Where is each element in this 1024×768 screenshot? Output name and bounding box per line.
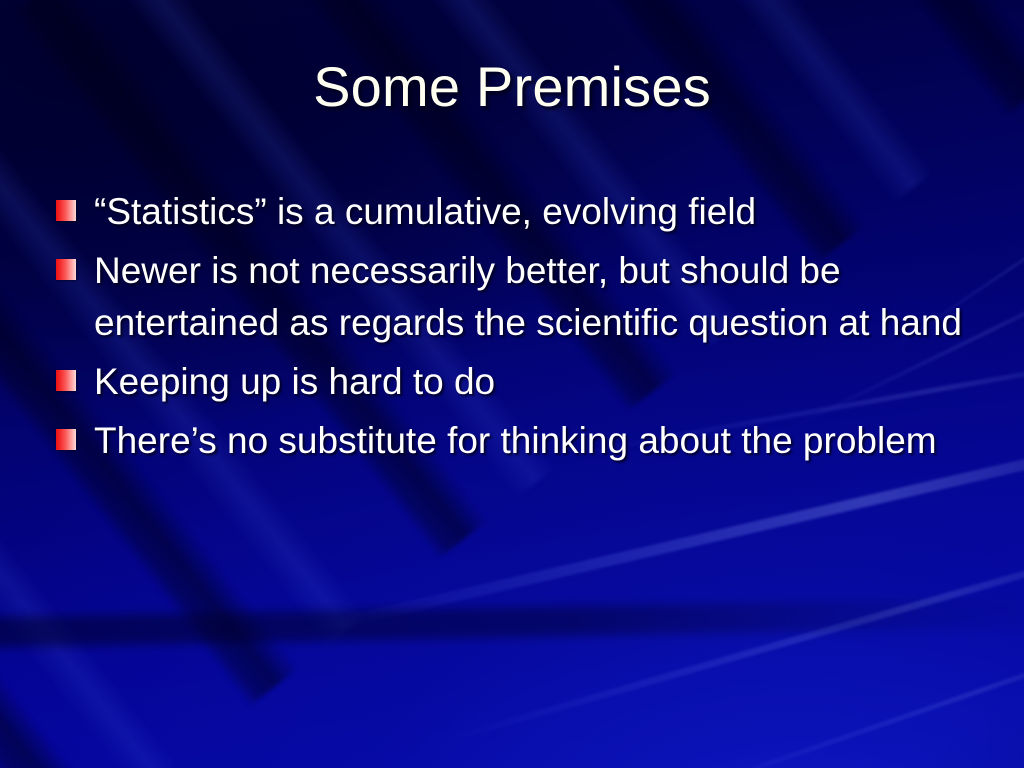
bullet-square-icon	[56, 259, 76, 280]
bullet-item: “Statistics” is a cumulative, evolving f…	[56, 186, 976, 238]
bullet-item-label: “Statistics” is a cumulative, evolving f…	[94, 186, 976, 238]
slide-body-content: “Statistics” is a cumulative, evolving f…	[56, 186, 976, 474]
bullet-item-label: Newer is not necessarily better, but sho…	[94, 245, 976, 349]
bullet-square-icon	[56, 200, 76, 221]
bullet-item: Keeping up is hard to do	[56, 356, 976, 408]
bullet-item-label: There’s no substitute for thinking about…	[94, 415, 976, 467]
bullet-item-label: Keeping up is hard to do	[94, 356, 976, 408]
presentation-slide: Some Premises “Statistics” is a cumulati…	[0, 0, 1024, 768]
bullet-square-icon	[56, 370, 76, 391]
slide-title: Some Premises	[0, 58, 1024, 117]
bullet-item: Newer is not necessarily better, but sho…	[56, 245, 976, 349]
bullet-item: There’s no substitute for thinking about…	[56, 415, 976, 467]
bullet-square-icon	[56, 429, 76, 450]
